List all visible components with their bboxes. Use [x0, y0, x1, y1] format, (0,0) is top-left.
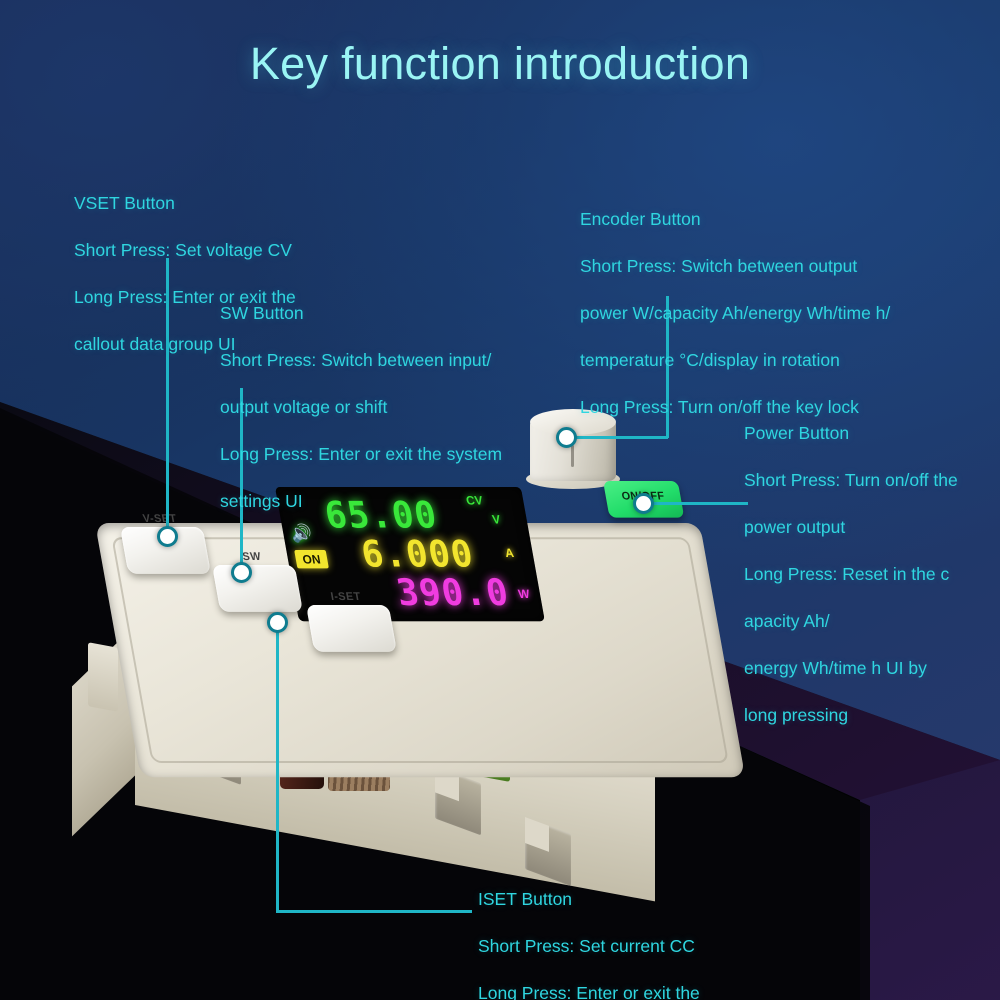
power-unit: W	[517, 587, 531, 601]
callout-sw-line-4: settings UI	[220, 490, 550, 514]
callout-iset-line-1: Short Press: Set current CC	[478, 935, 808, 959]
leader-line-iset-horizontal	[276, 910, 472, 913]
callout-encoder-line-2: power W/capacity Ah/energy Wh/time h/	[580, 302, 940, 326]
leader-line-power	[650, 502, 748, 505]
iset-button[interactable]: I-SET	[306, 605, 397, 652]
callout-encoder-line-1: Short Press: Switch between output	[580, 255, 940, 279]
sw-button[interactable]: SW	[212, 565, 303, 612]
current-unit: A	[504, 546, 515, 560]
callout-encoder-line-3: temperature °C/display in rotation	[580, 349, 940, 373]
callout-power-line-2: power output	[744, 516, 989, 540]
vset-button-label: V-SET	[117, 513, 202, 525]
callout-marker-vset	[157, 526, 178, 547]
callout-iset-line-2: Long Press: Enter or exit the	[478, 982, 808, 1000]
callout-power-line-6: long pressing	[744, 704, 989, 728]
callout-sw-line-3: Long Press: Enter or exit the system	[220, 443, 550, 467]
callout-vset-heading: VSET Button	[74, 192, 374, 216]
callout-marker-encoder	[556, 427, 577, 448]
output-on-badge: ON	[294, 550, 329, 568]
sw-button-label: SW	[209, 551, 294, 563]
infographic-canvas: Key function introduction V 220u	[0, 0, 1000, 1000]
callout-encoder-heading: Encoder Button	[580, 208, 940, 232]
power-readout: 390.0	[394, 572, 513, 614]
callout-sw-line-1: Short Press: Switch between input/	[220, 349, 550, 373]
current-readout: 6.000	[358, 534, 477, 576]
callout-power-heading: Power Button	[744, 422, 989, 446]
callout-vset-line-1: Short Press: Set voltage CV	[74, 239, 374, 263]
callout-power-line-4: apacity Ah/	[744, 610, 989, 634]
callout-iset: ISET Button Short Press: Set current CC …	[478, 864, 808, 1000]
callout-power-line-1: Short Press: Turn on/off the	[744, 469, 989, 493]
callout-power: Power Button Short Press: Turn on/off th…	[744, 398, 989, 751]
mounting-tab	[88, 642, 118, 712]
callout-iset-heading: ISET Button	[478, 888, 808, 912]
page-title: Key function introduction	[0, 38, 1000, 90]
callout-sw-heading: SW Button	[220, 302, 550, 326]
callout-power-line-5: energy Wh/time h UI by	[744, 657, 989, 681]
callout-sw: SW Button Short Press: Switch between in…	[220, 278, 550, 537]
callout-marker-power	[633, 493, 654, 514]
iset-button-label: I-SET	[303, 591, 388, 603]
callout-marker-sw	[231, 562, 252, 583]
callout-marker-iset	[267, 612, 288, 633]
callout-sw-line-2: output voltage or shift	[220, 396, 550, 420]
leader-line-iset	[276, 630, 279, 912]
callout-power-line-3: Long Press: Reset in the c	[744, 563, 989, 587]
